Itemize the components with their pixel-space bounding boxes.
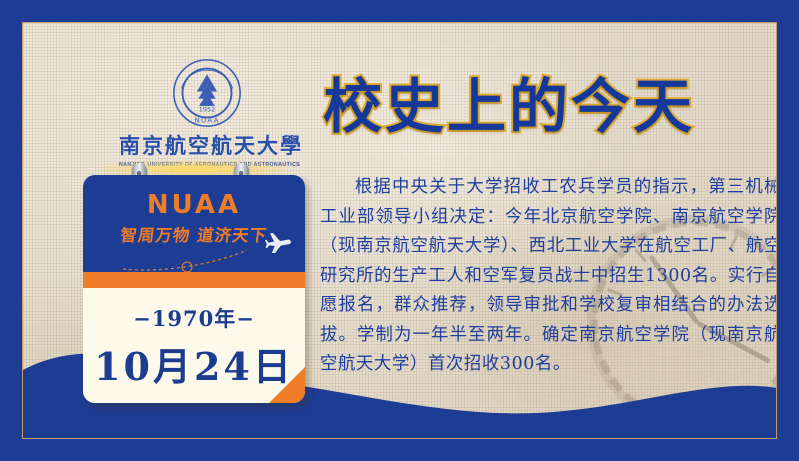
calendar-logo-text: NUAA <box>83 190 305 220</box>
svg-text:1952: 1952 <box>198 106 214 114</box>
page-title: 校史上的今天 <box>323 59 695 144</box>
svg-text:NUAA: NUAA <box>194 116 219 125</box>
calendar-card: NUAA 智周万物 道济天下 −1970年− 10月24日 <box>83 175 305 403</box>
calendar-card-header: NUAA 智周万物 道济天下 <box>83 175 305 272</box>
article-body: 根据中央关于大学招收工农兵学员的指示，第三机械工业部领导小组决定：今年北京航空学… <box>320 173 777 380</box>
university-name-cn: 南京航空航天大學 <box>119 130 294 160</box>
page-fold-corner <box>269 367 305 403</box>
calendar-year: −1970年− <box>83 303 305 333</box>
poster-inner-frame: 1952 NUAA 南京航空航天大學 NANJING UNIVERSITY OF… <box>22 22 777 439</box>
plane-trail <box>121 247 271 272</box>
calendar-orange-bar <box>83 272 305 288</box>
airplane-icon <box>265 231 291 253</box>
nuaa-crest-icon: 1952 NUAA <box>171 57 243 129</box>
calendar-card-body: −1970年− 10月24日 <box>83 288 305 403</box>
poster-root: 1952 NUAA 南京航空航天大學 NANJING UNIVERSITY OF… <box>0 0 799 461</box>
university-logo-block: 1952 NUAA 南京航空航天大學 NANJING UNIVERSITY OF… <box>119 57 294 168</box>
